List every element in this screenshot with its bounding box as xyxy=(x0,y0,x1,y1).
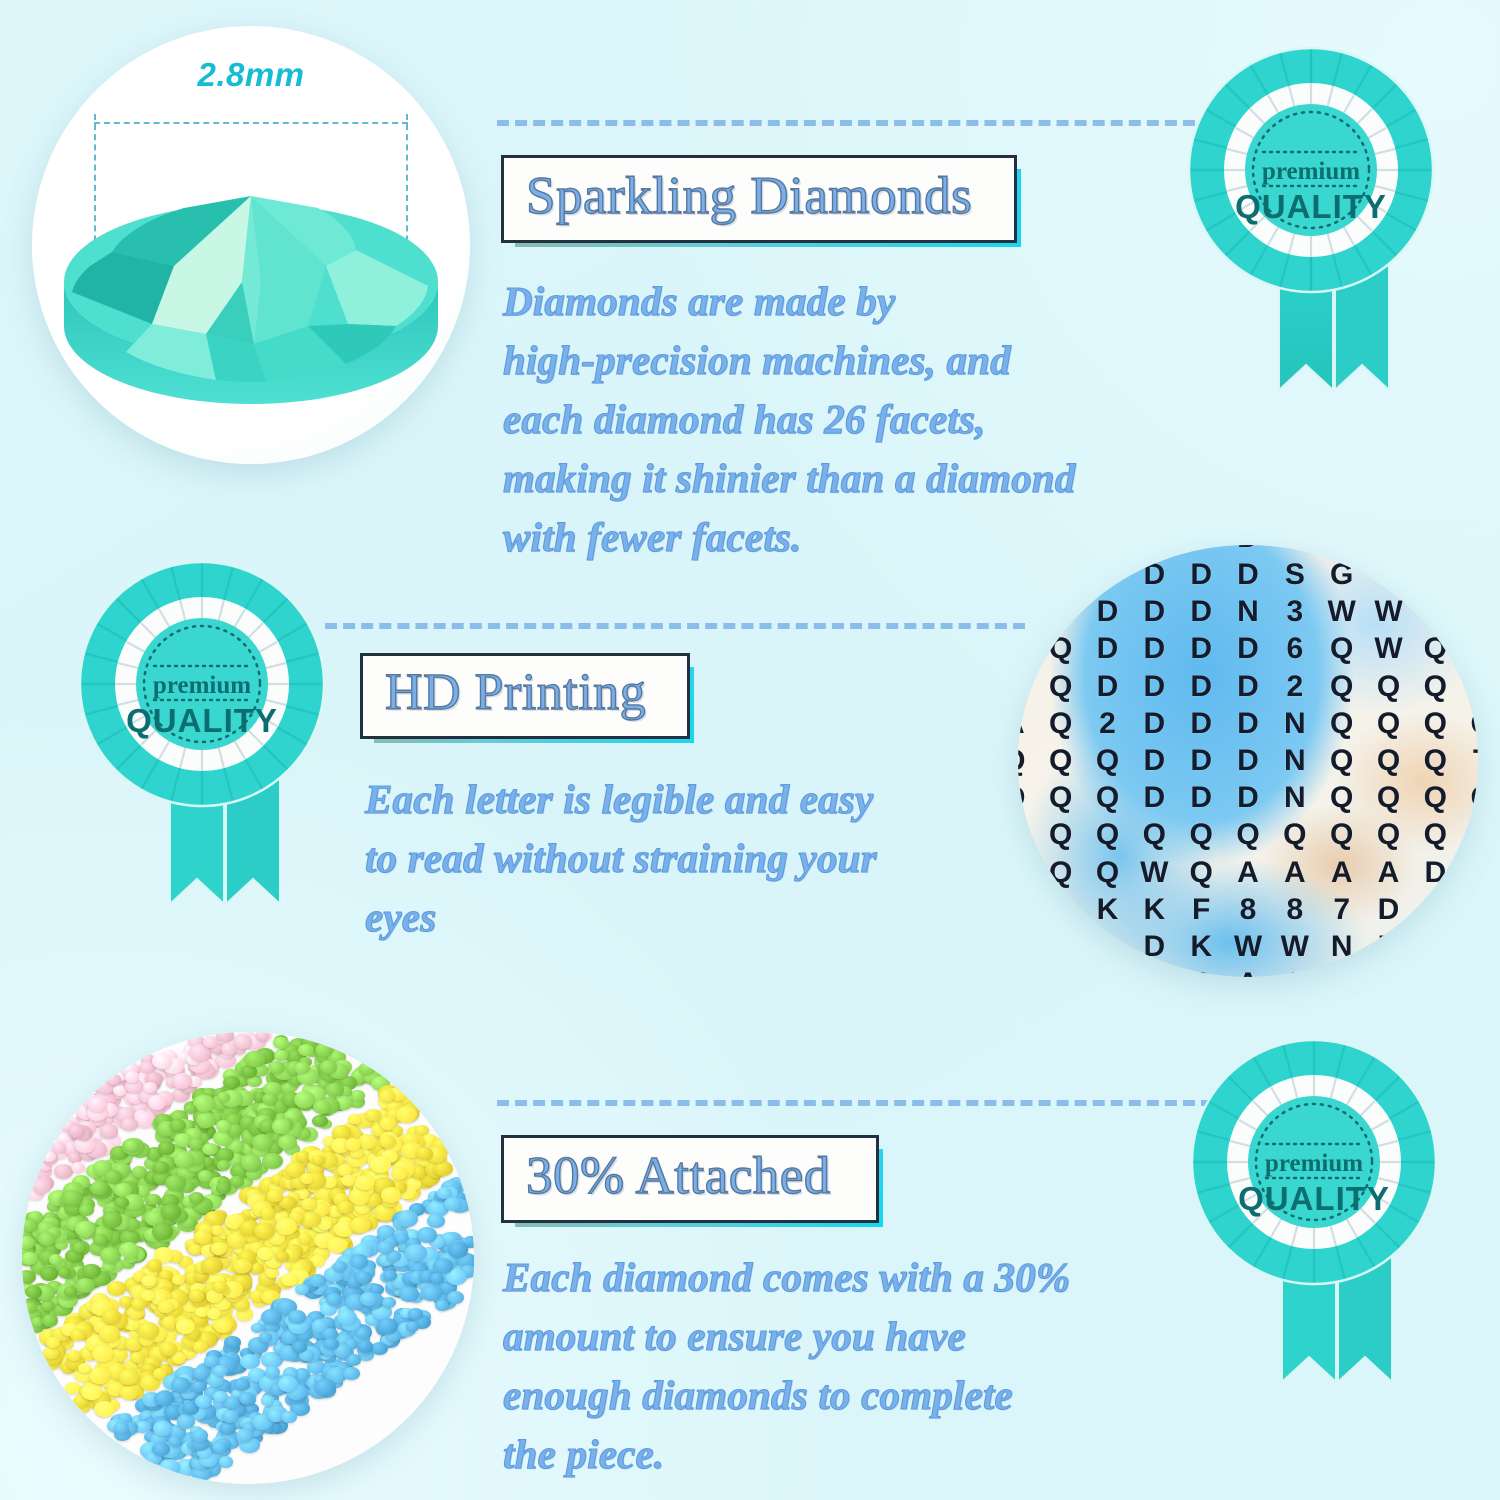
drill-bead xyxy=(230,1176,243,1186)
drill-bead xyxy=(396,1106,417,1122)
drill-bead xyxy=(298,1044,314,1056)
drill-bead xyxy=(417,1227,437,1243)
drill-bead xyxy=(114,1422,129,1434)
drill-bead xyxy=(379,1090,395,1102)
canvas-letter: 8 xyxy=(1240,895,1257,925)
canvas-letter: 1 xyxy=(1427,560,1444,590)
drill-bead xyxy=(90,1181,108,1195)
canvas-letter: N xyxy=(1331,932,1353,962)
drill-bead xyxy=(153,1421,172,1436)
premium-quality-badge: premium QUALITY xyxy=(1186,1030,1442,1410)
drill-bead xyxy=(288,1310,306,1324)
drill-bead xyxy=(261,1395,274,1405)
drill-bead xyxy=(25,1286,41,1299)
drill-bead xyxy=(219,1422,235,1435)
drill-bead xyxy=(275,1251,289,1262)
canvas-letter: 6 xyxy=(1018,820,1022,850)
canvas-letter: D xyxy=(1097,597,1119,627)
canvas-letter: A xyxy=(1331,858,1353,888)
printed-canvas-photo: QNDDDD888B8QQDDDDSG11D2NDDDN3WW51QQDDDD6… xyxy=(1018,545,1478,977)
drill-bead xyxy=(38,1232,55,1246)
canvas-letter: D xyxy=(1097,545,1119,553)
canvas-letter: 3 xyxy=(1286,597,1303,627)
canvas-letter: D xyxy=(1143,709,1165,739)
canvas-letter: 8 xyxy=(1474,545,1478,553)
body-line: enough diamonds to complete xyxy=(503,1366,1223,1425)
canvas-letter: N xyxy=(1237,597,1259,627)
canvas-letter: Q xyxy=(1330,634,1353,664)
body-line: Diamonds are made by xyxy=(503,272,1243,331)
drill-bead xyxy=(207,1308,220,1319)
drill-bead xyxy=(202,1143,218,1156)
canvas-letter: D xyxy=(1097,932,1119,962)
drill-bead xyxy=(106,1074,121,1085)
canvas-letter: Q xyxy=(1096,858,1119,888)
canvas-letter: D xyxy=(1097,672,1119,702)
canvas-letter: N xyxy=(1284,783,1306,813)
canvas-letter: Q xyxy=(1424,783,1447,813)
drill-bead xyxy=(165,1175,186,1191)
drill-bead xyxy=(217,1160,230,1170)
drill-bead xyxy=(43,1347,59,1359)
canvas-letter: Q xyxy=(1377,709,1400,739)
drill-bead xyxy=(416,1147,433,1160)
drill-bead xyxy=(274,1050,287,1060)
body-line: amount to ensure you have xyxy=(503,1307,1223,1366)
canvas-letter: T xyxy=(1473,746,1478,776)
drill-bead xyxy=(170,1119,186,1132)
canvas-letter: D xyxy=(1471,560,1478,590)
drill-bead xyxy=(281,1411,297,1424)
diamond-drill-photo: 2.8mm xyxy=(32,26,470,464)
canvas-letter: 6 xyxy=(1286,634,1303,664)
drill-bead xyxy=(212,1442,227,1453)
drill-bead xyxy=(22,1219,38,1232)
drill-bead xyxy=(233,1259,251,1273)
drill-bead xyxy=(192,1429,208,1441)
drill-bead xyxy=(76,1278,95,1293)
drill-bead xyxy=(345,1138,361,1151)
canvas-letter: Q xyxy=(1330,746,1353,776)
drill-bead xyxy=(174,1151,195,1167)
title-text: Sparkling Diamonds xyxy=(526,169,972,223)
canvas-letter: 8 xyxy=(1286,895,1303,925)
canvas-letter: N xyxy=(1284,746,1306,776)
canvas-letter: 8 xyxy=(1333,545,1350,553)
drill-bead xyxy=(184,1104,197,1114)
section-title-30-percent-attached: 30% Attached xyxy=(501,1135,879,1223)
drill-bead xyxy=(257,1247,273,1260)
drill-bead xyxy=(67,1350,81,1361)
canvas-letter: K xyxy=(1097,895,1119,925)
canvas-letter: Q xyxy=(1096,820,1119,850)
drill-bead xyxy=(444,1197,462,1211)
drill-bead xyxy=(193,1341,208,1353)
drill-bead xyxy=(79,1204,95,1216)
canvas-letter: A xyxy=(1237,858,1259,888)
drill-bead xyxy=(171,1377,190,1392)
canvas-letter: D xyxy=(1378,895,1400,925)
canvas-letter: Q xyxy=(1330,783,1353,813)
drill-bead xyxy=(276,1218,297,1234)
canvas-letter: W xyxy=(1140,969,1168,977)
canvas-letter: A xyxy=(1378,858,1400,888)
canvas-letter: 8 xyxy=(1286,545,1303,553)
drill-bead xyxy=(240,1354,260,1369)
drill-bead xyxy=(337,1201,354,1214)
canvas-letter: K xyxy=(1097,969,1119,977)
drill-bead xyxy=(191,1380,207,1392)
canvas-letter: Q xyxy=(1049,858,1072,888)
canvas-letter: Q xyxy=(1236,820,1259,850)
drill-bead xyxy=(89,1367,110,1383)
canvas-letter: D xyxy=(1143,560,1165,590)
drill-beads-photo xyxy=(22,1032,474,1484)
canvas-letter: D xyxy=(1190,672,1212,702)
drill-bead xyxy=(75,1221,96,1237)
section-title-sparkling-diamonds: Sparkling Diamonds xyxy=(501,155,1017,243)
drill-bead xyxy=(46,1337,60,1348)
canvas-letter: Q xyxy=(1377,783,1400,813)
canvas-letter: 4 xyxy=(1474,932,1478,962)
canvas-letter: D xyxy=(1471,895,1478,925)
canvas-letter: D xyxy=(1190,709,1212,739)
measurement-label: 2.8mm xyxy=(32,56,470,94)
canvas-letter: B xyxy=(1425,545,1447,553)
canvas-letter: D xyxy=(1237,634,1259,664)
drill-bead xyxy=(22,1236,35,1249)
canvas-letter: Q xyxy=(1018,672,1025,702)
beads-layer xyxy=(22,1032,474,1484)
canvas-letter: Q xyxy=(1189,858,1212,888)
canvas-letter-grid: QNDDDD888B8QQDDDDSG11D2NDDDN3WW51QQDDDD6… xyxy=(1018,545,1478,977)
drill-bead xyxy=(312,1115,328,1127)
drill-bead xyxy=(100,1124,119,1138)
canvas-letter: D xyxy=(1425,858,1447,888)
canvas-letter: D xyxy=(1378,969,1400,977)
canvas-letter: W xyxy=(1140,858,1168,888)
drill-bead xyxy=(82,1264,100,1278)
drill-bead xyxy=(300,1173,314,1184)
canvas-letter: D xyxy=(1143,783,1165,813)
drill-bead xyxy=(323,1338,338,1350)
canvas-letter: D xyxy=(1050,969,1072,977)
body-line: the piece. xyxy=(503,1425,1223,1484)
body-line: each diamond has 26 facets, xyxy=(503,390,1243,449)
drill-bead xyxy=(172,1073,193,1089)
canvas-letter: K xyxy=(1190,932,1212,962)
drill-bead xyxy=(350,1217,370,1233)
drill-bead xyxy=(119,1242,139,1258)
canvas-letter: W xyxy=(1374,597,1402,627)
drill-bead xyxy=(261,1309,282,1325)
drill-bead xyxy=(198,1170,213,1182)
drill-bead xyxy=(265,1267,279,1278)
drill-bead xyxy=(201,1257,223,1274)
drill-bead xyxy=(189,1138,204,1149)
drill-bead xyxy=(421,1285,441,1301)
drill-bead xyxy=(343,1367,360,1380)
drill-bead xyxy=(153,1161,169,1174)
drill-bead xyxy=(24,1302,37,1312)
drill-bead xyxy=(172,1274,185,1284)
canvas-letter: Q xyxy=(1330,709,1353,739)
drill-bead xyxy=(333,1261,347,1272)
drill-bead xyxy=(427,1214,444,1228)
canvas-letter: D xyxy=(1331,969,1353,977)
drill-bead xyxy=(371,1342,388,1355)
canvas-letter: Q xyxy=(1424,672,1447,702)
drill-bead xyxy=(359,1062,375,1074)
canvas-letter: A xyxy=(1284,969,1306,977)
section-body-30-percent-attached: Each diamond comes with a 30% amount to … xyxy=(503,1248,1223,1484)
infographic-canvas: 2.8mm xyxy=(0,0,1500,1500)
canvas-letter: W xyxy=(1234,932,1262,962)
drill-bead xyxy=(236,1429,254,1443)
drill-bead xyxy=(193,1366,211,1380)
drill-bead xyxy=(121,1118,138,1131)
canvas-letter: Q xyxy=(1018,783,1025,813)
drill-bead xyxy=(203,1036,218,1048)
canvas-letter: N xyxy=(1050,545,1072,553)
canvas-letter: D xyxy=(1190,634,1212,664)
canvas-letter: D xyxy=(1471,969,1478,977)
drill-bead xyxy=(58,1267,71,1277)
canvas-letter: W xyxy=(1328,597,1356,627)
canvas-letter: 4 xyxy=(1427,969,1444,977)
drill-bead xyxy=(54,1164,73,1179)
drill-bead xyxy=(301,1212,320,1227)
title-text: 30% Attached xyxy=(526,1149,831,1203)
canvas-letter: D xyxy=(1237,672,1259,702)
badge-quality-text: QUALITY xyxy=(126,702,278,739)
canvas-letter: Q xyxy=(1330,672,1353,702)
canvas-letter: Q xyxy=(1096,783,1119,813)
drill-bead xyxy=(216,1032,234,1043)
canvas-letter: 7 xyxy=(1333,895,1350,925)
canvas-letter: D xyxy=(1237,560,1259,590)
canvas-letter: A xyxy=(1284,858,1306,888)
drill-bead xyxy=(399,1286,419,1302)
premium-quality-badge: premium QUALITY xyxy=(74,552,330,932)
canvas-letter: Q xyxy=(1018,545,1025,553)
badge-quality-text: QUALITY xyxy=(1235,188,1387,225)
body-line: high-precision machines, and xyxy=(503,331,1243,390)
drill-bead xyxy=(159,1459,180,1475)
drill-bead xyxy=(107,1281,126,1296)
body-line: to read without straining your xyxy=(365,829,1025,888)
badge-premium-text: premium xyxy=(1262,158,1360,185)
drill-bead xyxy=(379,1135,397,1149)
canvas-letter: D xyxy=(1143,932,1165,962)
canvas-letter: Q xyxy=(1189,969,1212,977)
section-body-sparkling-diamonds: Diamonds are made by high-precision mach… xyxy=(503,272,1243,567)
canvas-letter: Q xyxy=(1143,820,1166,850)
canvas-letter: D xyxy=(1237,545,1259,553)
drill-bead xyxy=(294,1091,315,1107)
drill-bead xyxy=(49,1254,63,1265)
premium-quality-badge: premium QUALITY xyxy=(1183,38,1439,418)
drill-bead xyxy=(252,1134,273,1151)
drill-bead xyxy=(348,1114,361,1124)
drill-bead xyxy=(196,1112,216,1128)
drill-bead xyxy=(381,1187,401,1203)
canvas-letter: 2 xyxy=(1018,597,1022,627)
drill-bead xyxy=(278,1135,297,1150)
drill-bead xyxy=(241,1065,257,1077)
section-divider-3 xyxy=(497,1100,1213,1106)
canvas-letter: S xyxy=(1285,560,1305,590)
canvas-letter: Q xyxy=(1049,560,1072,590)
drill-bead xyxy=(62,1190,83,1206)
drill-bead xyxy=(256,1032,269,1041)
drill-bead xyxy=(350,1255,368,1269)
drill-bead xyxy=(210,1225,223,1235)
drill-bead xyxy=(244,1051,265,1068)
drill-bead xyxy=(94,1401,115,1418)
badge-quality-text: QUALITY xyxy=(1238,1180,1390,1217)
canvas-letter: Q xyxy=(1424,634,1447,664)
drill-bead xyxy=(326,1293,343,1306)
drill-bead xyxy=(194,1230,211,1244)
drill-bead xyxy=(262,1153,283,1169)
drill-bead xyxy=(161,1204,181,1219)
drill-bead xyxy=(406,1321,419,1331)
drill-bead xyxy=(148,1095,167,1110)
canvas-letter: Q xyxy=(1049,820,1072,850)
canvas-letter: D xyxy=(1143,597,1165,627)
drill-bead xyxy=(125,1071,140,1082)
badge-premium-text: premium xyxy=(153,672,251,699)
drill-bead xyxy=(292,1341,307,1353)
drill-bead xyxy=(102,1211,123,1227)
canvas-letter: 6 xyxy=(1018,858,1022,888)
drill-bead xyxy=(64,1286,77,1296)
canvas-letter: K xyxy=(1143,895,1165,925)
drill-bead xyxy=(377,1318,398,1334)
canvas-letter: D xyxy=(1143,672,1165,702)
canvas-letter: N xyxy=(1018,895,1025,925)
canvas-letter: Q xyxy=(1283,820,1306,850)
canvas-letter: 1 xyxy=(1474,597,1478,627)
drill-bead xyxy=(337,1310,357,1325)
drill-bead xyxy=(176,1319,195,1334)
canvas-letter: F xyxy=(1192,895,1210,925)
canvas-letter: 5 xyxy=(1474,820,1478,850)
canvas-letter: Q xyxy=(1189,820,1212,850)
canvas-letter: D xyxy=(1190,597,1212,627)
drill-bead xyxy=(71,1162,85,1173)
drill-bead xyxy=(447,1291,464,1304)
drill-bead xyxy=(314,1379,335,1396)
canvas-letter: D xyxy=(1190,746,1212,776)
canvas-letter: Q xyxy=(1096,746,1119,776)
canvas-letter: D xyxy=(1425,895,1447,925)
canvas-letter: D xyxy=(1237,746,1259,776)
title-text: HD Printing xyxy=(385,666,646,719)
drill-bead xyxy=(382,1297,396,1308)
drill-bead xyxy=(70,1329,86,1341)
canvas-letter: A xyxy=(1237,969,1259,977)
drill-bead xyxy=(320,1060,338,1074)
canvas-letter: D xyxy=(1097,560,1119,590)
canvas-letter: Q xyxy=(1424,820,1447,850)
drill-bead xyxy=(272,1119,291,1133)
drill-bead xyxy=(177,1414,196,1429)
drill-bead xyxy=(104,1170,121,1184)
canvas-letter: A xyxy=(1018,709,1025,739)
drill-bead xyxy=(119,1369,139,1385)
canvas-letter: D xyxy=(1190,560,1212,590)
drill-bead xyxy=(360,1292,377,1305)
canvas-letter: D xyxy=(1237,783,1259,813)
drill-bead xyxy=(102,1309,122,1324)
canvas-letter: Q xyxy=(1377,820,1400,850)
canvas-letter: D xyxy=(1425,932,1447,962)
canvas-letter: D xyxy=(1018,932,1025,962)
drill-bead xyxy=(216,1182,231,1194)
canvas-letter: N xyxy=(1284,709,1306,739)
canvas-letter: G xyxy=(1330,560,1353,590)
canvas-letter: D xyxy=(1143,545,1165,553)
gem-illustration xyxy=(56,174,446,414)
canvas-letter: G xyxy=(1471,783,1479,813)
drill-bead xyxy=(142,1275,156,1286)
drill-bead xyxy=(259,1332,273,1343)
section-divider-2 xyxy=(325,623,1025,629)
drill-bead xyxy=(234,1378,250,1391)
canvas-letter: D xyxy=(1143,634,1165,664)
drill-bead xyxy=(99,1325,120,1341)
drill-bead xyxy=(349,1188,370,1205)
drill-bead xyxy=(355,1175,375,1191)
canvas-letter: W xyxy=(1468,672,1478,702)
drill-bead xyxy=(294,1062,310,1074)
drill-bead xyxy=(397,1210,418,1227)
canvas-letter: 5 xyxy=(1427,597,1444,627)
body-line: Each letter is legible and easy xyxy=(365,770,1025,829)
section-title-hd-printing: HD Printing xyxy=(360,653,690,739)
canvas-letter: D xyxy=(1471,858,1478,888)
canvas-letter: Q xyxy=(1049,672,1072,702)
canvas-letter: D xyxy=(1237,709,1259,739)
body-line: Each diamond comes with a 30% xyxy=(503,1248,1223,1307)
canvas-letter: 1 xyxy=(1380,560,1397,590)
canvas-letter: Q xyxy=(1377,746,1400,776)
drill-bead xyxy=(160,1342,177,1355)
canvas-letter: K xyxy=(1050,895,1072,925)
drill-bead xyxy=(265,1366,281,1378)
badge-premium-text: premium xyxy=(1265,1150,1363,1177)
canvas-letter: W xyxy=(1374,634,1402,664)
drill-bead xyxy=(40,1266,58,1280)
drill-bead xyxy=(433,1258,453,1274)
canvas-letter: D xyxy=(1018,969,1025,977)
canvas-letter: D xyxy=(1050,932,1072,962)
drill-bead xyxy=(154,1391,173,1406)
drill-bead xyxy=(42,1314,59,1327)
drill-bead xyxy=(254,1223,275,1239)
canvas-letter: Q xyxy=(1018,560,1025,590)
drill-bead xyxy=(224,1336,241,1349)
canvas-letter: D xyxy=(1190,783,1212,813)
canvas-letter: N xyxy=(1050,597,1072,627)
drill-bead xyxy=(370,1156,391,1172)
drill-bead xyxy=(146,1194,161,1205)
canvas-letter: Q xyxy=(1049,783,1072,813)
drill-bead xyxy=(73,1242,86,1252)
drill-bead xyxy=(222,1410,239,1423)
